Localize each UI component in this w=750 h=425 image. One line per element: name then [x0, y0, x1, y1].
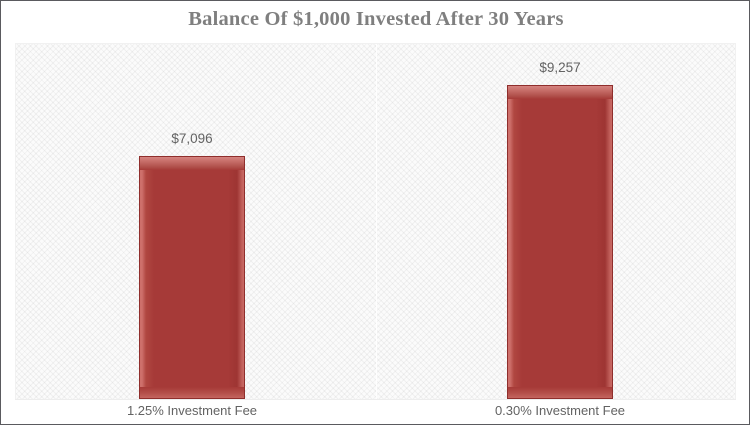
bar-top-bevel	[140, 157, 244, 170]
chart-title: Balance Of $1,000 Invested After 30 Year…	[1, 8, 750, 31]
category-divider	[376, 44, 377, 401]
category-axis-line	[15, 399, 736, 400]
bar-chart: Balance Of $1,000 Invested After 30 Year…	[0, 0, 750, 425]
bar-bottom-bevel	[508, 387, 612, 398]
data-label-category-1: $9,257	[507, 60, 613, 75]
bar-top-bevel	[508, 86, 612, 99]
bar-series-0-category-1[interactable]	[507, 85, 613, 399]
bar-bottom-bevel	[140, 387, 244, 398]
data-label-category-0: $7,096	[139, 131, 245, 146]
category-label-1: 0.30% Investment Fee	[484, 403, 636, 418]
category-label-0: 1.25% Investment Fee	[116, 403, 268, 418]
bar-series-0-category-0[interactable]	[139, 156, 245, 399]
plot-area	[15, 43, 736, 400]
